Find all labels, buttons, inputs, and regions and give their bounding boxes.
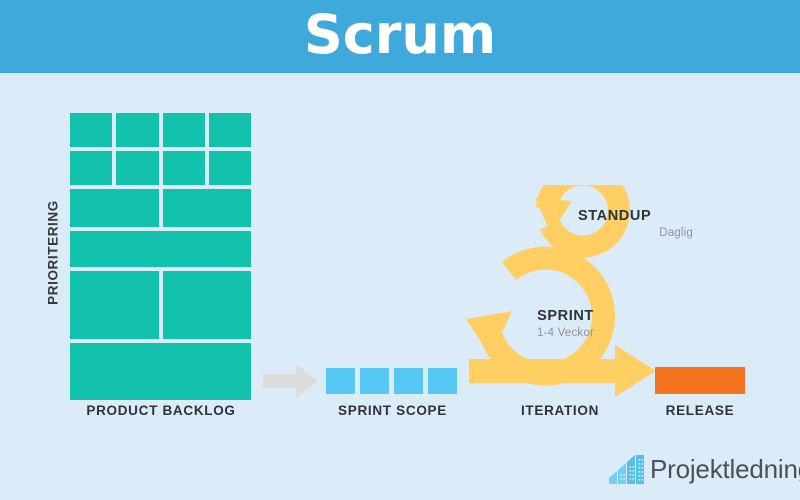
backlog-cell xyxy=(116,151,158,185)
backlog-cell xyxy=(70,343,251,400)
sprint-scope-cell xyxy=(326,368,355,394)
backlog-cell xyxy=(70,189,159,227)
backlog-row xyxy=(70,231,251,267)
backlog-cell xyxy=(70,113,112,147)
caption-sprint-scope: SPRINT SCOPE xyxy=(320,403,465,418)
sprint-scope-cell xyxy=(394,368,423,394)
backlog-cell xyxy=(209,151,251,185)
backlog-row xyxy=(70,189,251,227)
sprint-scope-blocks xyxy=(326,368,457,394)
product-backlog-grid xyxy=(70,113,251,391)
sprint-title: SPRINT xyxy=(513,308,618,324)
backlog-cell xyxy=(163,271,251,339)
caption-product-backlog: PRODUCT BACKLOG xyxy=(70,403,252,418)
backlog-cell xyxy=(70,151,112,185)
backlog-row xyxy=(70,343,251,400)
brand-name: Projektledning xyxy=(650,454,800,485)
standup-annotation: STANDUP Daglig xyxy=(578,208,713,239)
page-title: Scrum xyxy=(0,0,800,73)
backlog-cell xyxy=(163,151,205,185)
sprint-scope-cell xyxy=(428,368,457,394)
release-bar xyxy=(655,367,745,394)
caption-release: RELEASE xyxy=(645,403,755,418)
infographic-canvas: Scrum PRIORITERING xyxy=(0,0,800,500)
backlog-row xyxy=(70,271,251,339)
standup-title: STANDUP xyxy=(578,208,713,224)
bar-chart-logo-icon xyxy=(609,454,645,484)
sprint-subtitle: 1-4 Veckor xyxy=(513,327,618,339)
caption-iteration: ITERATION xyxy=(490,403,630,418)
backlog-cell xyxy=(163,113,205,147)
sprint-scope-cell xyxy=(360,368,389,394)
priority-axis-label: PRIORITERING xyxy=(46,178,61,328)
transition-arrow-icon xyxy=(263,363,318,399)
backlog-cell xyxy=(163,189,251,227)
sprint-annotation: SPRINT 1-4 Veckor xyxy=(513,308,618,339)
brand-logo: Projektledning xyxy=(609,452,800,486)
backlog-cell xyxy=(70,231,251,267)
backlog-cell xyxy=(70,271,159,339)
backlog-row xyxy=(70,151,251,185)
backlog-row xyxy=(70,113,251,147)
backlog-cell xyxy=(116,113,158,147)
backlog-cell xyxy=(209,113,251,147)
standup-subtitle: Daglig xyxy=(578,227,713,239)
